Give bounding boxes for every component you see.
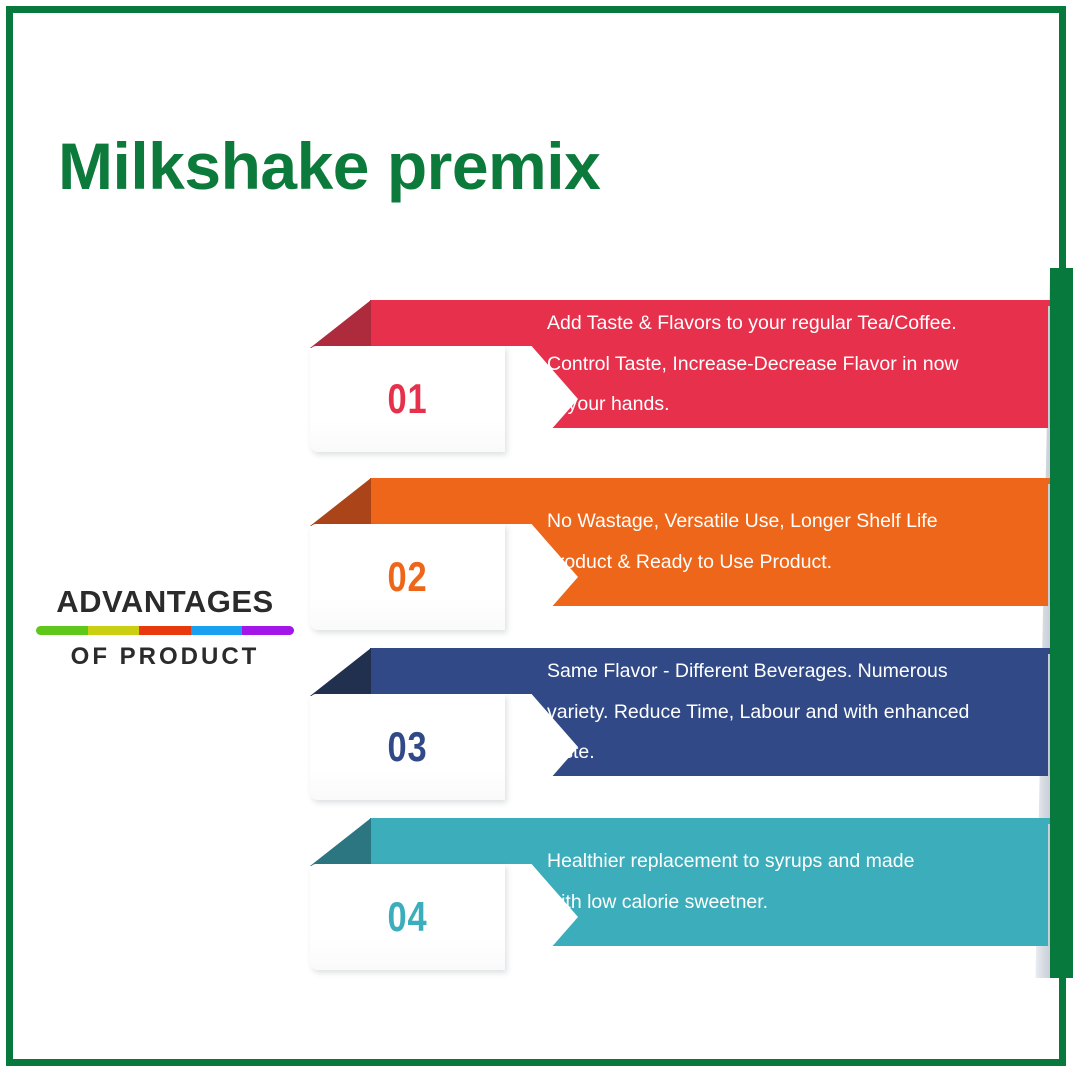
rainbow-segment-1 bbox=[36, 626, 88, 635]
ribbon-number: 01 bbox=[328, 346, 488, 452]
ribbon-text-line-2: variety. Reduce Time, Labour and with en… bbox=[547, 692, 997, 733]
ribbon-text: Healthier replacement to syrups and made… bbox=[547, 818, 997, 946]
ribbon-text-line-2: product & Ready to Use Product. bbox=[547, 542, 997, 583]
ribbon-text-line-3: taste. bbox=[547, 732, 997, 773]
ribbon-number: 02 bbox=[328, 524, 488, 630]
rainbow-segment-2 bbox=[88, 626, 140, 635]
ribbon-number: 03 bbox=[328, 694, 488, 800]
ribbon-fold-corner bbox=[310, 648, 371, 696]
ribbon-text-line-1: Healthier replacement to syrups and made bbox=[547, 841, 997, 882]
ribbon-fold-corner bbox=[310, 818, 371, 866]
ribbon-text: Add Taste & Flavors to your regular Tea/… bbox=[547, 300, 997, 428]
rainbow-segment-4 bbox=[191, 626, 243, 635]
rainbow-segment-3 bbox=[139, 626, 191, 635]
right-green-accent-bar bbox=[1050, 268, 1073, 978]
advantages-heading: ADVANTAGES bbox=[36, 586, 294, 619]
ribbon-text-line-1: Same Flavor - Different Beverages. Numer… bbox=[547, 651, 997, 692]
advantages-label-block: ADVANTAGES OF PRODUCT bbox=[36, 586, 294, 671]
ribbon-text-line-3: in your hands. bbox=[547, 384, 997, 425]
rainbow-segment-5 bbox=[242, 626, 294, 635]
advantage-ribbon-2[interactable]: 02 No Wastage, Versatile Use, Longer She… bbox=[310, 478, 1050, 606]
advantages-subheading: OF PRODUCT bbox=[36, 643, 294, 671]
page-title: Milkshake premix bbox=[58, 128, 600, 204]
infographic-poster: Milkshake premix ADVANTAGES OF PRODUCT 0… bbox=[0, 0, 1080, 1080]
ribbon-fold-corner bbox=[310, 478, 371, 526]
rainbow-divider bbox=[36, 626, 294, 635]
ribbon-text-line-2: with low calorie sweetner. bbox=[547, 882, 997, 923]
ribbon-number: 04 bbox=[328, 864, 488, 970]
advantage-ribbon-4[interactable]: 04 Healthier replacement to syrups and m… bbox=[310, 818, 1050, 946]
ribbon-text: Same Flavor - Different Beverages. Numer… bbox=[547, 648, 997, 776]
ribbon-text-line-2: Control Taste, Increase-Decrease Flavor … bbox=[547, 344, 997, 385]
ribbon-fold-corner bbox=[310, 300, 371, 348]
advantage-ribbon-3[interactable]: 03 Same Flavor - Different Beverages. Nu… bbox=[310, 648, 1050, 776]
ribbon-text-line-1: No Wastage, Versatile Use, Longer Shelf … bbox=[547, 501, 997, 542]
ribbon-text: No Wastage, Versatile Use, Longer Shelf … bbox=[547, 478, 997, 606]
ribbon-text-line-1: Add Taste & Flavors to your regular Tea/… bbox=[547, 303, 997, 344]
advantage-ribbon-1[interactable]: 01 Add Taste & Flavors to your regular T… bbox=[310, 300, 1050, 428]
